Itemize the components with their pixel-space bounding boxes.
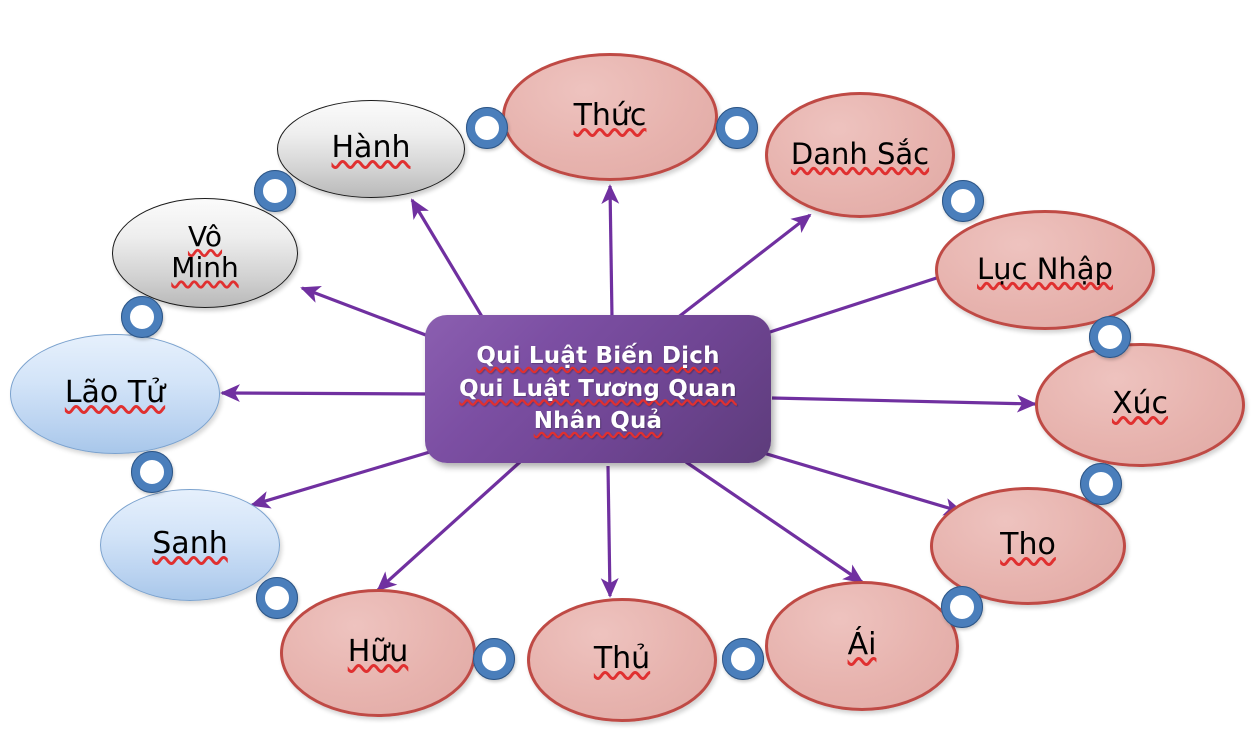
ring-outline [131,451,173,493]
ring-thuc-danhsac[interactable] [716,107,758,149]
ring-outline [466,107,508,149]
node-label-xuc: Xúc [1112,387,1168,423]
ring-outline [722,638,764,680]
node-label-vo-minh: Vô Minh [171,221,238,286]
node-label-danh-sac: Danh Sắc [791,138,929,172]
ring-ai-thu[interactable] [722,638,764,680]
node-label-hanh: Hành [332,131,411,167]
center-hub[interactable]: Qui Luật Biến DịchQui Luật Tương QuanNhâ… [425,315,771,463]
diagram-canvas: ThứcDanh SắcLục NhậpXúcThoÁiThủHữuSanhLã… [0,0,1254,742]
node-sanh[interactable]: Sanh [100,489,280,601]
node-danh-sac[interactable]: Danh Sắc [765,92,955,218]
node-vo-minh[interactable]: Vô Minh [112,198,298,308]
node-label-lao-tu: Lão Tử [65,376,165,412]
edge-hub-laotu [222,393,428,394]
node-xuc[interactable]: Xúc [1035,343,1245,467]
node-thu[interactable]: Thủ [527,598,717,722]
node-label-ai: Ái [848,628,877,664]
edge-hub-ai [686,462,862,582]
hub-line-2: Qui Luật Tương Quan [459,373,737,406]
edge-hub-thuc [610,186,612,318]
edge-hub-tho [760,452,962,512]
ring-outline [941,586,983,628]
hub-line-3: Nhân Quả [534,405,663,438]
ring-outline [121,296,163,338]
node-label-thu: Thủ [594,642,650,678]
ring-thu-huu[interactable] [473,638,515,680]
ring-outline [716,107,758,149]
node-label-sanh: Sanh [152,527,227,563]
ring-vominh-hanh[interactable] [254,170,296,212]
edge-hub-xuc [772,398,1035,404]
ring-huu-sanh[interactable] [256,577,298,619]
node-label-luc-nhap: Lục Nhập [977,253,1113,287]
edge-hub-danhsac [672,215,810,322]
ring-outline [1080,463,1122,505]
edge-hub-lucnhap [770,272,955,332]
ring-laotu-vominh[interactable] [121,296,163,338]
ring-lucnhap-xuc[interactable] [1089,316,1131,358]
ring-outline [254,170,296,212]
node-huu[interactable]: Hữu [280,589,476,717]
node-luc-nhap[interactable]: Lục Nhập [935,210,1155,330]
node-label-thuc: Thức [574,99,647,135]
ring-tho-ai[interactable] [941,586,983,628]
node-hanh[interactable]: Hành [277,100,465,198]
hub-line-1: Qui Luật Biến Dịch [476,340,719,373]
edge-hub-huu [378,462,520,590]
ring-outline [256,577,298,619]
ring-sanh-laotu[interactable] [131,451,173,493]
ring-danhsac-lucnhap[interactable] [942,180,984,222]
edge-hub-thu [608,466,610,596]
ring-outline [942,180,984,222]
edge-hub-hanh [412,200,490,330]
ring-outline [1089,316,1131,358]
node-thuc[interactable]: Thức [502,53,718,181]
ring-outline [473,638,515,680]
node-label-tho: Tho [1000,528,1056,564]
node-lao-tu[interactable]: Lão Tử [10,334,220,454]
ring-xuc-tho[interactable] [1080,463,1122,505]
node-label-huu: Hữu [348,635,409,671]
node-ai[interactable]: Ái [765,581,959,711]
ring-hanh-thuc[interactable] [466,107,508,149]
